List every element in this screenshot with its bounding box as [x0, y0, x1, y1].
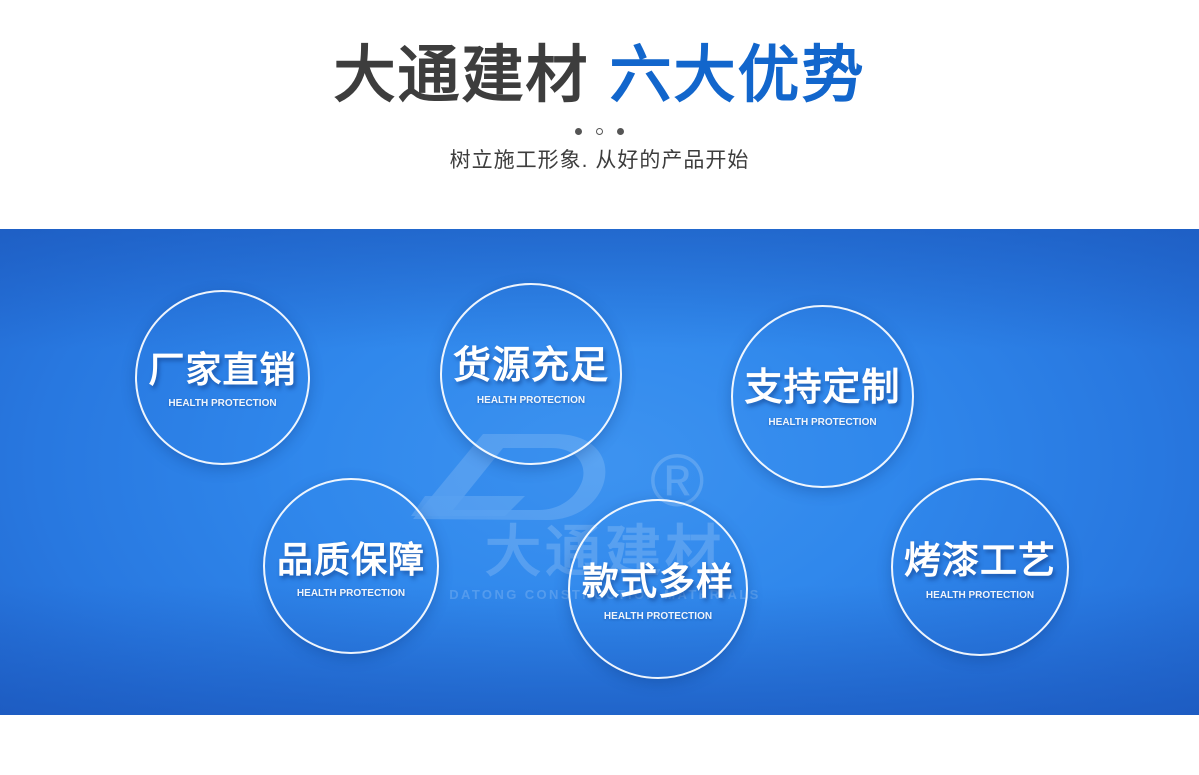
page-title: 大通建材六大优势	[0, 45, 1199, 107]
advantage-sublabel: HEALTH PROTECTION	[137, 398, 308, 409]
advantages-panel: ® 大通建材 DATONG CONSTRUCTION MATERIALS 厂家直…	[0, 229, 1199, 715]
advantage-circle-4[interactable]: 品质保障 HEALTH PROTECTION	[263, 478, 439, 654]
advantage-circle-5[interactable]: 款式多样 HEALTH PROTECTION	[568, 499, 748, 679]
dot-divider	[0, 123, 1199, 137]
advantage-circle-6[interactable]: 烤漆工艺 HEALTH PROTECTION	[891, 478, 1069, 656]
page-subtitle: 树立施工形象. 从好的产品开始	[0, 144, 1199, 174]
page-title-accent: 六大优势	[610, 45, 866, 107]
divider-dot-hollow-center	[596, 128, 603, 135]
header-section: 大通建材六大优势 树立施工形象. 从好的产品开始	[0, 0, 1199, 229]
advantage-label: 厂家直销	[137, 352, 308, 388]
advantage-label: 品质保障	[265, 542, 437, 578]
advantage-sublabel: HEALTH PROTECTION	[265, 588, 437, 599]
advantage-sublabel: HEALTH PROTECTION	[442, 395, 620, 406]
advantage-label: 烤漆工艺	[893, 542, 1067, 579]
advantage-sublabel: HEALTH PROTECTION	[893, 590, 1067, 601]
advantage-circle-2[interactable]: 货源充足 HEALTH PROTECTION	[440, 283, 622, 465]
advantage-circle-1[interactable]: 厂家直销 HEALTH PROTECTION	[135, 290, 310, 465]
divider-dot-filled-left	[575, 128, 582, 135]
advantage-label: 支持定制	[733, 369, 912, 407]
advantage-label: 款式多样	[570, 563, 746, 600]
page-title-main: 大通建材	[333, 45, 589, 107]
advantage-circle-3[interactable]: 支持定制 HEALTH PROTECTION	[731, 305, 914, 488]
advantage-sublabel: HEALTH PROTECTION	[733, 417, 912, 428]
divider-dot-filled-right	[617, 128, 624, 135]
advantage-sublabel: HEALTH PROTECTION	[570, 611, 746, 622]
advantage-label: 货源充足	[442, 347, 620, 385]
